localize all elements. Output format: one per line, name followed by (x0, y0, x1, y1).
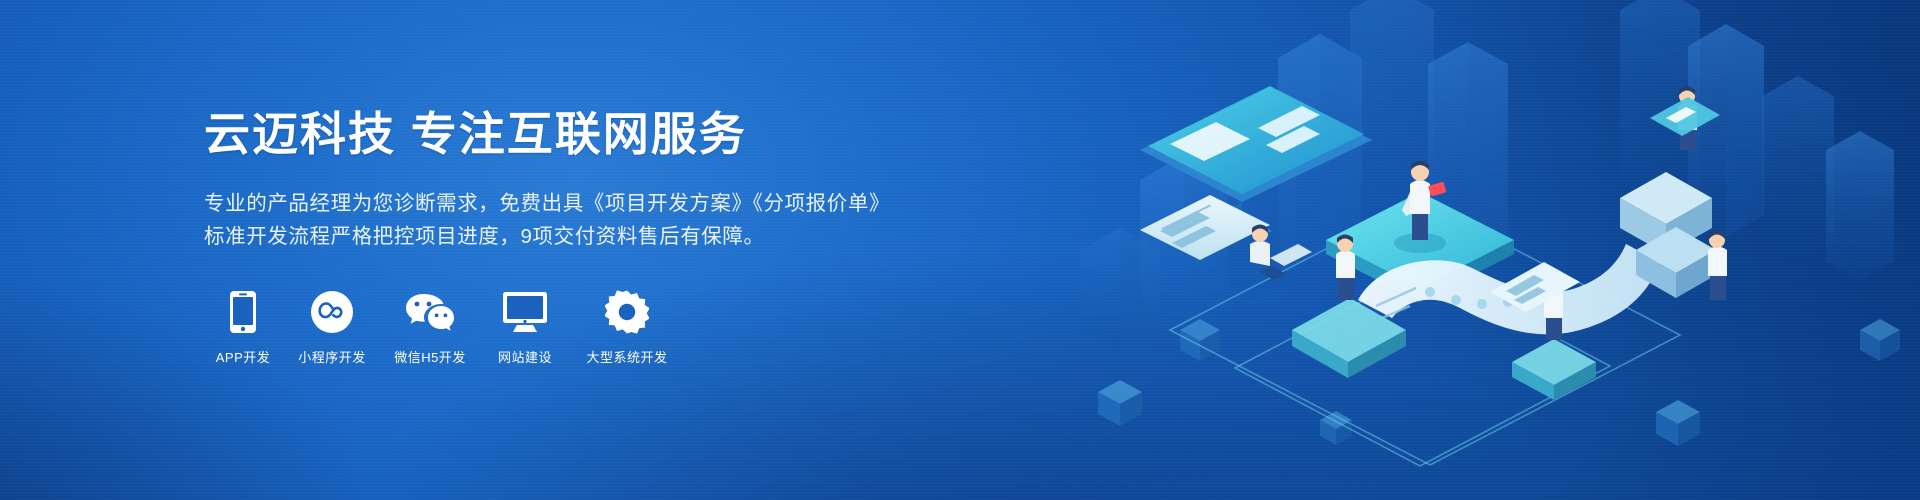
center-platform (1326, 192, 1514, 302)
service-item-large-system[interactable]: 大型系统开发 (572, 288, 682, 366)
person-standing-center (1394, 161, 1446, 253)
monitor-icon (502, 288, 548, 336)
person-with-laptop (1292, 235, 1406, 379)
banner-subtitle: 专业的产品经理为您诊断需求，免费出具《项目开发方案》《分项报价单》 标准开发流程… (204, 187, 964, 253)
service-item-website[interactable]: 网站建设 (482, 288, 568, 366)
subtitle-line-1: 专业的产品经理为您诊断需求，免费出具《项目开发方案》《分项报价单》 (204, 187, 964, 220)
banner-content: 云迈科技 专注互联网服务 专业的产品经理为您诊断需求，免费出具《项目开发方案》《… (204, 0, 964, 500)
document-sheets (1140, 195, 1270, 260)
person-sitting-left (1250, 225, 1312, 281)
mini-program-icon (310, 288, 354, 336)
wechat-icon (404, 288, 456, 336)
floating-cubes (1098, 319, 1900, 446)
floating-ui-card-right (1650, 97, 1720, 136)
gear-icon (605, 288, 649, 336)
service-label-wechat-h5: 微信H5开发 (394, 347, 466, 366)
dashboard-screen (1140, 86, 1372, 232)
page-title: 云迈科技 专注互联网服务 (204, 108, 964, 161)
service-item-app[interactable]: APP开发 (204, 288, 282, 366)
ground-grid (1170, 200, 1680, 466)
person-right-upper (1678, 87, 1697, 151)
service-item-mini-program[interactable]: 小程序开发 (286, 288, 378, 366)
service-label-large-system: 大型系统开发 (586, 347, 667, 366)
person-right-lower (1708, 231, 1727, 301)
mobile-phone-icon (229, 288, 257, 336)
background-buildings (1080, 0, 1894, 352)
service-label-website: 网站建设 (498, 347, 552, 366)
floating-ui-panel (1490, 262, 1580, 312)
isometric-illustration (1020, 0, 1920, 500)
right-boxes (1620, 172, 1716, 298)
service-label-mini-program: 小程序开发 (298, 347, 366, 366)
person-pedestal-bottom (1512, 275, 1596, 401)
subtitle-line-2: 标准开发流程严格把控项目进度，9项交付资料售后有保障。 (204, 220, 964, 253)
hero-banner: 云迈科技 专注互联网服务 专业的产品经理为您诊断需求，免费出具《项目开发方案》《… (0, 0, 1920, 500)
service-item-wechat-h5[interactable]: 微信H5开发 (382, 288, 478, 366)
data-ribbon (1358, 244, 1660, 334)
service-list: APP开发 小程序开发 (204, 288, 964, 366)
service-label-app: APP开发 (216, 347, 271, 366)
